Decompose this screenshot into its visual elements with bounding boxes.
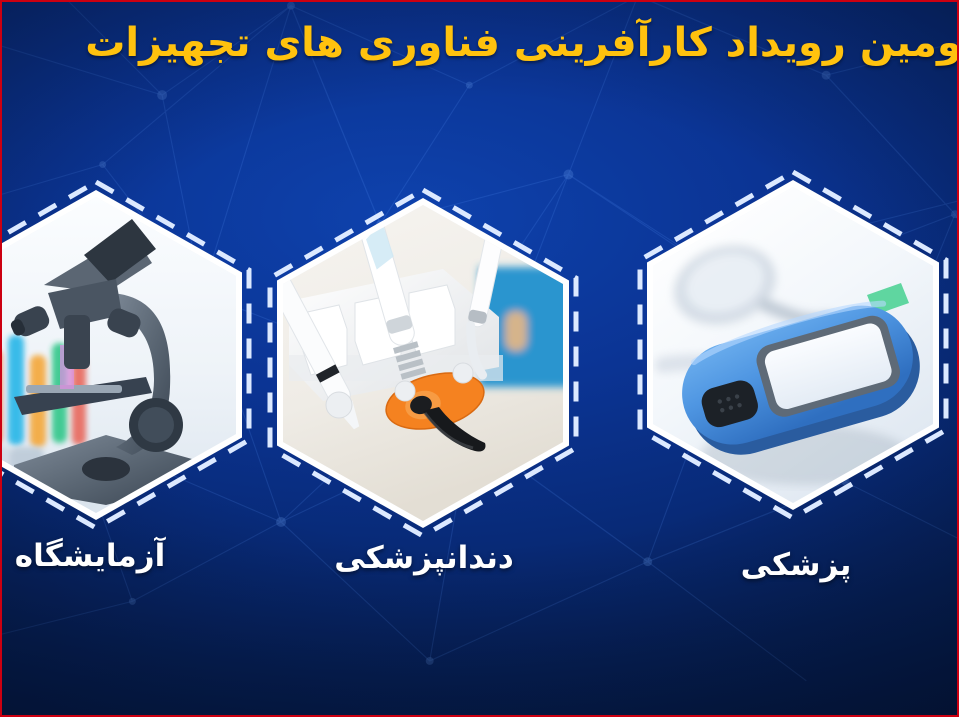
hex-card-dentistry[interactable]	[277, 198, 569, 528]
caption-laboratory: آزمایشگاه	[0, 538, 236, 574]
presentation-slide: ومین رویداد کارآفرینی فناوری های تجهیزات	[0, 0, 959, 717]
caption-dentistry: دندانپزشکی	[278, 540, 570, 576]
microscope-photo	[0, 197, 236, 513]
hex-shape-laboratory	[0, 190, 242, 520]
hex-card-medical[interactable]	[647, 180, 939, 510]
hex-shape-medical	[647, 180, 939, 510]
hex-card-row	[2, 180, 957, 600]
glucose-meter-photo	[653, 187, 933, 503]
caption-medical: پزشکی	[650, 547, 942, 583]
hex-shape-dentistry	[277, 198, 569, 528]
hex-card-laboratory[interactable]	[0, 190, 242, 520]
dental-handpieces-photo	[283, 205, 563, 521]
